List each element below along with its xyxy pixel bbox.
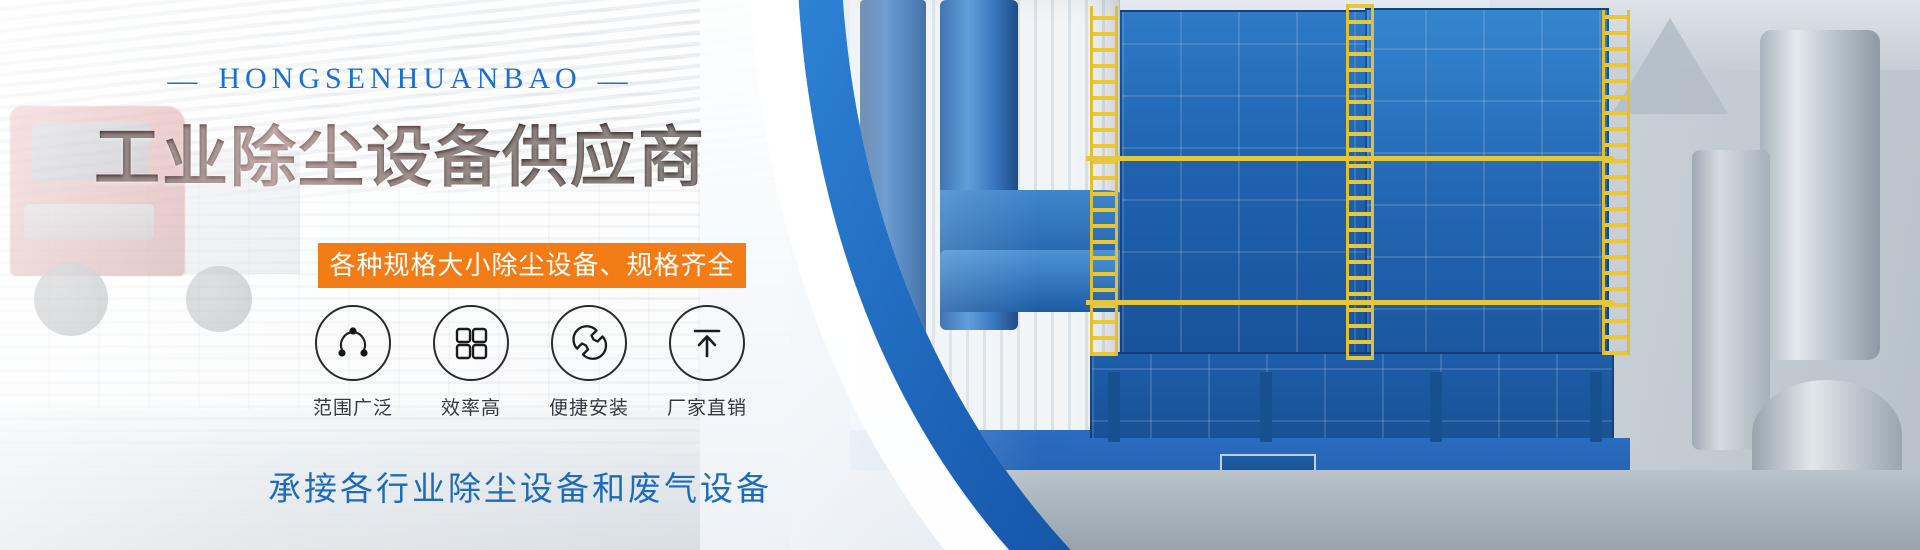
feature-list: 范围广泛 效率高 — [300, 305, 760, 420]
feature-item[interactable]: 效率高 — [418, 305, 524, 420]
banner-title: 工业除尘设备供应商 — [0, 104, 800, 200]
feature-item[interactable]: 范围广泛 — [300, 305, 406, 420]
hero-banner: —HONGSENHUANBAO— 工业除尘设备供应商 各种规格大小除尘设备、规格… — [0, 0, 1920, 550]
grid-four-squares-icon — [433, 305, 509, 381]
feature-label: 便捷安装 — [536, 393, 642, 420]
feature-item[interactable]: 便捷安装 — [536, 305, 642, 420]
eyebrow-dash-left: — — [167, 64, 202, 98]
banner-tagline: 承接各行业除尘设备和废气设备 — [0, 462, 1040, 510]
feature-label: 厂家直销 — [654, 393, 760, 420]
feature-label: 范围广泛 — [300, 393, 406, 420]
highlight-bar-text: 各种规格大小除尘设备、规格齐全 — [318, 243, 746, 288]
eyebrow-text: HONGSENHUANBAO — [218, 62, 581, 95]
eyebrow-dash-right: — — [598, 64, 633, 98]
highlight-bar: 各种规格大小除尘设备、规格齐全 — [318, 243, 746, 288]
feature-item[interactable]: 厂家直销 — [654, 305, 760, 420]
arrow-up-bar-icon — [669, 305, 745, 381]
network-nodes-icon — [315, 305, 391, 381]
wrench-icon — [551, 305, 627, 381]
banner-content: —HONGSENHUANBAO— 工业除尘设备供应商 各种规格大小除尘设备、规格… — [0, 0, 1040, 550]
brand-eyebrow: —HONGSENHUANBAO— — [0, 62, 800, 98]
feature-label: 效率高 — [418, 393, 524, 420]
